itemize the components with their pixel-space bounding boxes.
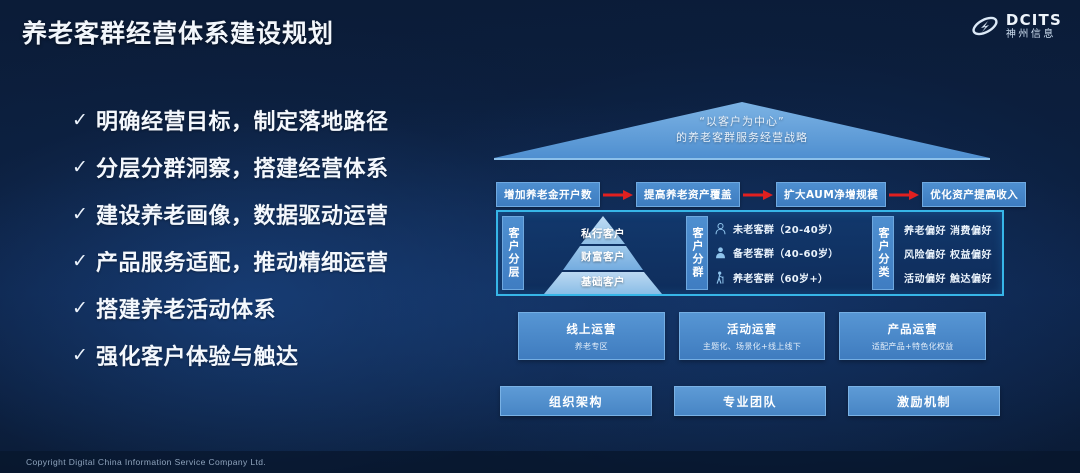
list-item-label: 分层分群洞察，搭建经营体系 <box>96 151 389 183</box>
list-item: ✓ 强化客户体验与触达 <box>72 339 472 371</box>
young-person-icon <box>714 222 727 235</box>
chain-box-1[interactable]: 增加养老金开户数 <box>496 182 600 207</box>
tier-level-2: 财富客户 <box>581 249 625 264</box>
operations-cards: 线上运营 养老专区 活动运营 主题化、场景化+线上线下 产品运营 适配产品+特色… <box>518 312 986 360</box>
operation-card-title: 活动运营 <box>727 321 777 337</box>
customer-segmentation-panel: 客户分层 私行客户 财富客户 基础客户 客户分群 <box>496 210 1004 296</box>
arrow-right-icon <box>740 189 776 201</box>
strategy-banner-text: “以客户为中心” 的养老客群服务经营战略 <box>492 114 992 146</box>
list-item: 养老客群（60岁+） <box>714 270 868 285</box>
logo-text-en: DCITS <box>1006 13 1062 28</box>
check-icon: ✓ <box>72 252 96 271</box>
group-label: 客户分群 <box>686 216 708 290</box>
preference-item: 触达偏好 <box>948 270 994 285</box>
operation-card-subtitle: 主题化、场景化+线上线下 <box>703 341 801 352</box>
preference-grid: 养老偏好 消费偏好 风险偏好 权益偏好 活动偏好 触达偏好 <box>894 212 1002 294</box>
list-item: ✓ 分层分群洞察，搭建经营体系 <box>72 151 472 183</box>
operation-card-title: 线上运营 <box>566 321 616 337</box>
slide-footer: Copyright Digital China Information Serv… <box>0 451 1080 473</box>
check-icon: ✓ <box>72 346 96 365</box>
preference-item: 养老偏好 <box>902 222 948 237</box>
group-segment-label: 养老客群（60岁+） <box>733 270 828 285</box>
strategy-chain: 增加养老金开户数 提高养老资产覆盖 扩大AUM净增规模 优化资产提高收入 <box>496 182 1004 207</box>
key-points-list: ✓ 明确经营目标，制定落地路径 ✓ 分层分群洞察，搭建经营体系 ✓ 建设养老画像… <box>72 104 472 386</box>
preference-item: 风险偏好 <box>902 246 948 261</box>
tier-label: 客户分层 <box>502 216 524 290</box>
list-item-label: 建设养老画像，数据驱动运营 <box>96 198 389 230</box>
elderly-person-icon <box>714 271 727 284</box>
arrow-right-icon <box>600 189 636 201</box>
list-item: ✓ 产品服务适配，推动精细运营 <box>72 245 472 277</box>
arrow-right-icon <box>886 189 922 201</box>
logo-text-cn: 神州信息 <box>1006 30 1062 40</box>
customer-group-list: 未老客群（20-40岁） 备老客群（40-60岁） 养老客群（60岁+） <box>708 212 868 294</box>
chain-box-3[interactable]: 扩大AUM净增规模 <box>776 182 886 207</box>
foundation-box-org[interactable]: 组织架构 <box>500 386 652 416</box>
strategy-diagram: “以客户为中心” 的养老客群服务经营战略 增加养老金开户数 提高养老资产覆盖 扩… <box>492 96 1012 426</box>
company-logo: DCITS 神州信息 <box>971 12 1062 40</box>
dcits-swoosh-icon <box>971 12 999 40</box>
tier-level-1: 私行客户 <box>581 226 625 241</box>
banner-line-1: “以客户为中心” <box>492 114 992 130</box>
foundation-box-incentive[interactable]: 激励机制 <box>848 386 1000 416</box>
copyright-text: Copyright Digital China Information Serv… <box>26 457 266 467</box>
middle-aged-person-icon <box>714 246 727 259</box>
group-segment-label: 备老客群（40-60岁） <box>733 245 839 260</box>
list-item: 备老客群（40-60岁） <box>714 245 868 260</box>
preference-item: 活动偏好 <box>902 270 948 285</box>
preference-item: 权益偏好 <box>948 246 994 261</box>
list-item-label: 产品服务适配，推动精细运营 <box>96 245 389 277</box>
list-item-label: 强化客户体验与触达 <box>96 339 299 371</box>
foundation-box-team[interactable]: 专业团队 <box>674 386 826 416</box>
operation-card-subtitle: 养老专区 <box>575 341 608 352</box>
list-item: ✓ 搭建养老活动体系 <box>72 292 472 324</box>
preference-item: 消费偏好 <box>948 222 994 237</box>
check-icon: ✓ <box>72 111 96 130</box>
chain-box-2[interactable]: 提高养老资产覆盖 <box>636 182 740 207</box>
list-item: ✓ 建设养老画像，数据驱动运营 <box>72 198 472 230</box>
list-item: ✓ 明确经营目标，制定落地路径 <box>72 104 472 136</box>
classify-label: 客户分类 <box>872 216 894 290</box>
list-item-label: 搭建养老活动体系 <box>96 292 276 324</box>
banner-line-2: 的养老客群服务经营战略 <box>492 130 992 146</box>
list-item: 未老客群（20-40岁） <box>714 221 868 236</box>
slide-header: 养老客群经营体系建设规划 DCITS 神州信息 <box>0 0 1080 62</box>
operation-card-activity[interactable]: 活动运营 主题化、场景化+线上线下 <box>679 312 826 360</box>
operation-card-product[interactable]: 产品运营 适配产品+特色化权益 <box>839 312 986 360</box>
operation-card-subtitle: 适配产品+特色化权益 <box>872 341 954 352</box>
tier-level-3: 基础客户 <box>581 274 625 289</box>
foundation-row: 组织架构 专业团队 激励机制 <box>500 386 1000 416</box>
check-icon: ✓ <box>72 205 96 224</box>
chain-box-4[interactable]: 优化资产提高收入 <box>922 182 1026 207</box>
operation-card-online[interactable]: 线上运营 养老专区 <box>518 312 665 360</box>
group-segment-label: 未老客群（20-40岁） <box>733 221 839 236</box>
list-item-label: 明确经营目标，制定落地路径 <box>96 104 389 136</box>
page-title: 养老客群经营体系建设规划 <box>22 14 334 50</box>
check-icon: ✓ <box>72 158 96 177</box>
operation-card-title: 产品运营 <box>888 321 938 337</box>
customer-tier-pyramid: 私行客户 财富客户 基础客户 <box>524 212 682 294</box>
check-icon: ✓ <box>72 299 96 318</box>
